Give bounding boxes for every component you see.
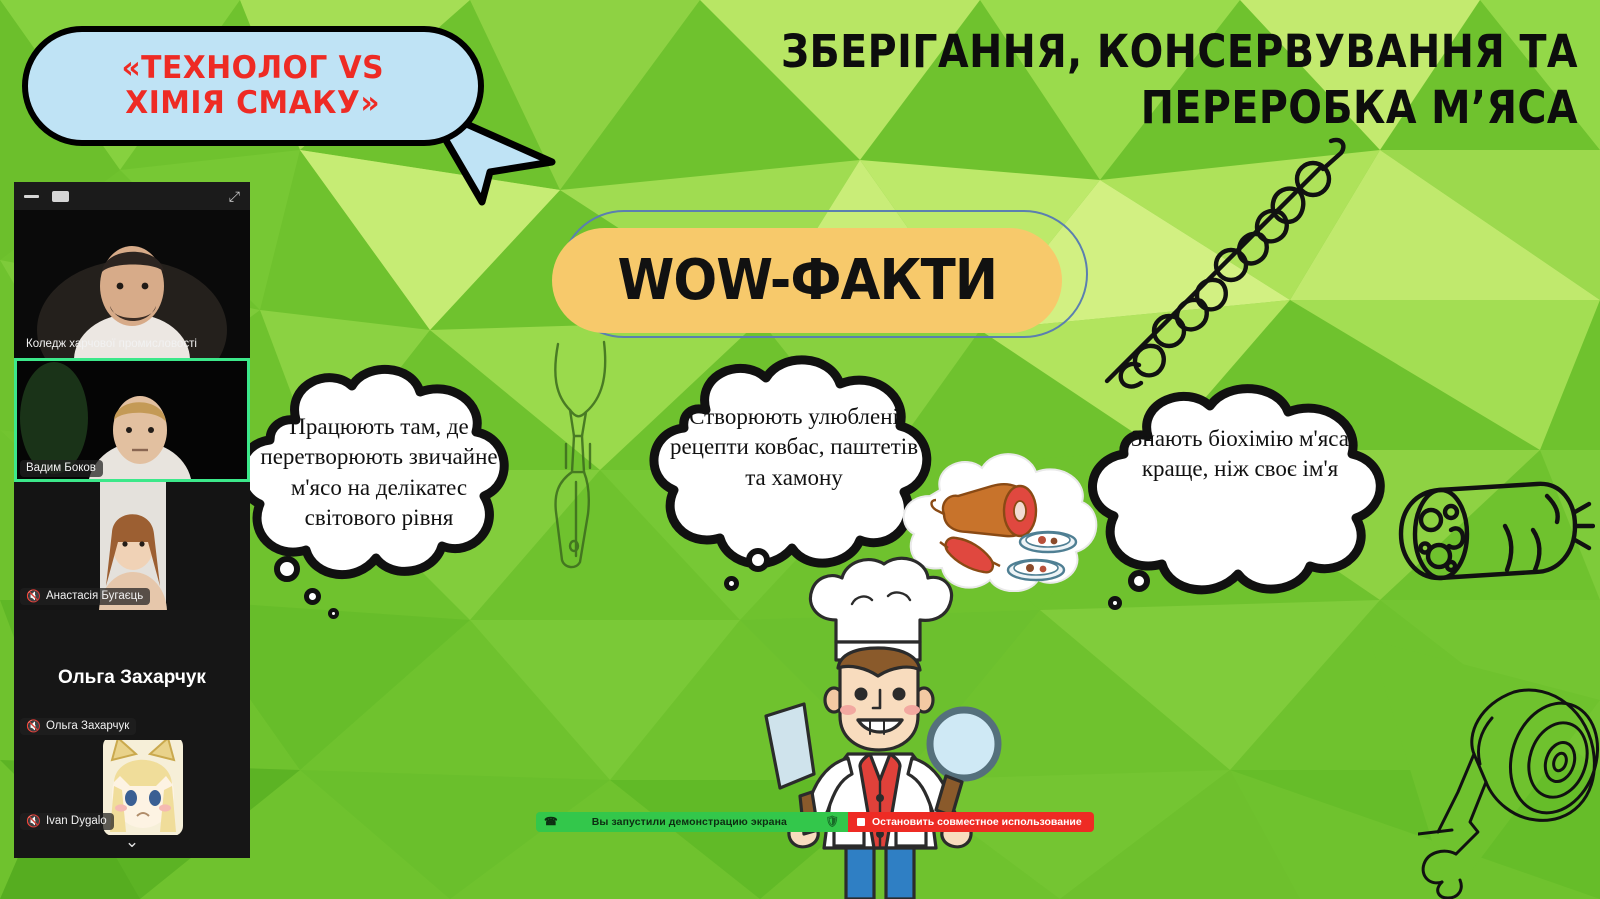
bubble-dot-medium [1108, 596, 1122, 610]
scroll-down-chevron[interactable]: ⌄ [14, 833, 250, 850]
bubble-dot-large [1128, 570, 1150, 592]
fact-bubble-1-text: Працюють там, де перетворюють звичайне м… [254, 412, 504, 533]
split-view-icon[interactable] [82, 190, 99, 202]
participant-tile-active[interactable]: Вадим Боков [14, 358, 250, 482]
ham-leg-illustration [1418, 672, 1600, 899]
sausage-illustration [1395, 468, 1595, 598]
shield-icon[interactable]: 🛡 [825, 817, 839, 828]
topic-callout-line2: ХІМІЯ СМАКУ» [126, 87, 381, 120]
participant-tile[interactable]: 🔇 Анастасія Бугаєць [14, 482, 250, 610]
video-conference-panel[interactable]: ⤢ Коледж харчової промисловості [14, 182, 250, 858]
slide-stage: ЗБЕРІГАННЯ, КОНСЕРВУВАННЯ ТА ПЕРЕРОБКА М… [0, 0, 1600, 899]
screen-share-status: ☎ Вы запустили демонстрацию экрана 🛡 [536, 812, 848, 832]
topic-callout-line1: «ТЕХНОЛОГ VS [122, 52, 385, 85]
topic-callout: «ТЕХНОЛОГ VS ХІМІЯ СМАКУ» [22, 26, 522, 196]
participant-name: Ivan Dygalo [46, 815, 107, 827]
wow-banner-label: WOW-ФАКТИ [617, 248, 997, 313]
fact-bubble-3: Знають біохімію м'яса краще, ніж своє ім… [1064, 382, 1414, 604]
phone-icon[interactable]: ☎ [544, 817, 558, 828]
expand-icon[interactable]: ⤢ [229, 189, 240, 203]
wow-facts-banner: WOW-ФАКТИ [552, 210, 1092, 350]
participant-name-badge: 🔇 Ivan Dygalo [20, 813, 114, 830]
stop-sharing-button[interactable]: Остановить совместное использование [848, 812, 1094, 832]
page-title: ЗБЕРІГАННЯ, КОНСЕРВУВАННЯ ТА ПЕРЕРОБКА М… [733, 24, 1578, 137]
single-view-icon[interactable] [52, 191, 69, 202]
bubble-dot-large [274, 556, 300, 582]
fact-bubble-1: Працюють там, де перетворюють звичайне м… [226, 360, 526, 595]
grid-view-icon[interactable] [112, 189, 128, 203]
fact-bubble-3-text: Знають біохімію м'яса краще, ніж своє ім… [1104, 424, 1376, 485]
screen-share-status-text: Вы запустили демонстрацию экрана [566, 816, 817, 828]
participant-name-badge: 🔇 Анастасія Бугаєць [20, 588, 150, 605]
participant-tile[interactable]: Ольга Захарчук 🔇 Ольга Захарчук [14, 610, 250, 740]
participant-tile[interactable]: Коледж харчової промисловості [14, 210, 250, 358]
screen-share-bar[interactable]: ☎ Вы запустили демонстрацию экрана 🛡 Ост… [536, 812, 1094, 832]
topic-callout-box: «ТЕХНОЛОГ VS ХІМІЯ СМАКУ» [22, 26, 484, 146]
page-title-line2: ПЕРЕРОБКА М’ЯСА [733, 80, 1578, 136]
video-panel-toolbar[interactable]: ⤢ [14, 182, 250, 210]
video-panel-footer: ⌄ [14, 835, 250, 858]
fact-bubble-2-text: Створюють улюблені рецепти ковбас, паште… [658, 402, 930, 493]
participant-name: Анастасія Бугаєць [46, 590, 143, 602]
mic-muted-icon: 🔇 [26, 720, 41, 732]
stop-sharing-label: Остановить совместное использование [872, 816, 1082, 828]
bubble-dot-medium [304, 588, 321, 605]
page-title-line1: ЗБЕРІГАННЯ, КОНСЕРВУВАННЯ ТА [781, 25, 1578, 78]
stop-square-icon [857, 818, 865, 826]
chef-character-illustration [760, 548, 1010, 899]
kebab-skewer-illustration [1085, 135, 1350, 390]
mic-muted-icon: 🔇 [26, 590, 41, 602]
carving-fork-illustration [518, 332, 643, 572]
mic-muted-icon: 🔇 [26, 815, 41, 827]
participant-name: Вадим Боков [26, 462, 96, 474]
wow-banner-pill: WOW-ФАКТИ [552, 228, 1062, 333]
participant-name-badge: 🔇 Ольга Захарчук [20, 718, 136, 735]
fact-bubble-3-shape [1064, 382, 1414, 604]
participant-tile[interactable]: 🔇 Ivan Dygalo [14, 740, 250, 835]
participant-name-badge: Вадим Боков [20, 460, 103, 477]
participant-name: Коледж харчової промисловості [26, 338, 197, 350]
bubble-dot-medium [724, 576, 739, 591]
participant-display-name: Ольга Захарчук [14, 667, 250, 689]
minimize-icon[interactable] [24, 195, 39, 198]
bubble-dot-small [328, 608, 339, 619]
participant-name-badge: Коледж харчової промисловості [20, 336, 204, 353]
participant-name: Ольга Захарчук [46, 720, 129, 732]
